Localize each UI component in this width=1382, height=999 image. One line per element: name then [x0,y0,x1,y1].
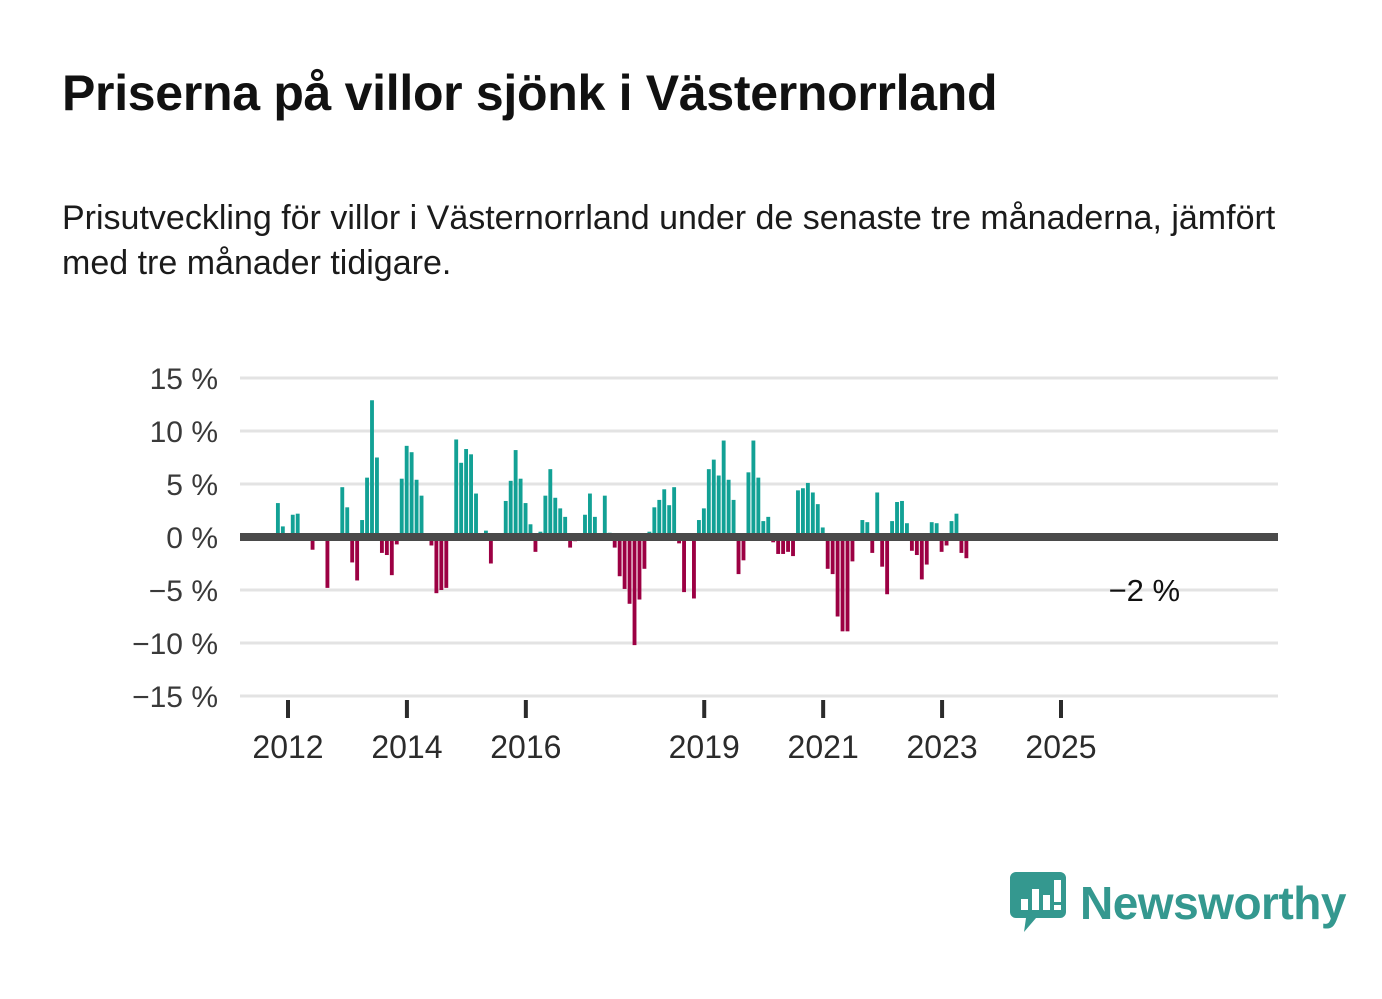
bar [514,450,518,537]
bar [420,496,424,537]
bar [692,537,696,598]
bar [603,496,607,537]
y-axis-tick-label: 15 % [150,363,218,396]
bar [642,537,646,569]
bar [652,507,656,537]
bar [375,458,379,538]
bar [469,454,473,537]
bar [836,537,840,617]
bar [796,490,800,537]
bar [756,478,760,537]
bar [618,537,622,576]
y-axis-tick-label: −10 % [132,628,218,661]
bar [543,496,547,537]
bar [702,508,706,537]
bar-chart: 15 %10 %5 %0 %−5 %−10 %−15 % 20122014201… [0,340,1382,770]
bar [524,503,528,537]
newsworthy-logo[interactable]: Newsworthy [1010,872,1346,934]
bar [325,537,329,588]
y-axis-tick-label: −15 % [132,681,218,714]
bar [672,487,676,537]
bar [712,460,716,537]
annotation-label: −2 % [1109,573,1181,608]
bar [662,489,666,537]
bar [806,483,810,537]
bar [509,481,513,537]
bar [751,441,755,537]
bar [454,439,458,537]
logo-text: Newsworthy [1080,880,1346,926]
bar [722,441,726,537]
bar [623,537,627,589]
bar [434,537,438,593]
y-axis-tick-label: 10 % [150,416,218,449]
bar [727,480,731,537]
y-axis-tick-label: 5 % [166,469,218,502]
chart-page: Priserna på villor sjönk i Västernorrlan… [0,0,1382,999]
bar [811,492,815,537]
x-axis-tick-label: 2021 [788,729,859,765]
bar [548,469,552,537]
bar [370,400,374,537]
x-axis-tick-label: 2023 [906,729,977,765]
y-axis-labels: 15 %10 %5 %0 %−5 %−10 %−15 % [132,363,218,714]
bar [895,502,899,537]
bar [628,537,632,604]
bar [667,505,671,537]
bar [410,452,414,537]
bar [405,446,409,537]
y-axis-tick-label: −5 % [149,575,218,608]
bar [365,478,369,537]
bar [340,487,344,537]
bar [464,449,468,537]
y-axis-tick-label: 0 % [166,522,218,555]
page-subtitle: Prisutveckling för villor i Västernorrla… [62,196,1317,286]
bar [831,537,835,574]
bar [920,537,924,579]
bar [732,500,736,537]
bar [519,479,523,537]
bar [717,476,721,537]
bar [276,503,280,537]
bar [801,488,805,537]
bar [588,494,592,537]
bar [415,480,419,537]
x-axis-labels: 2012201420162019202120232025 [252,700,1096,765]
bar-series [276,400,968,645]
x-axis-tick-label: 2025 [1025,729,1096,765]
x-axis-tick-label: 2014 [371,729,442,765]
bar [875,492,879,537]
bar [925,537,929,565]
x-axis-tick-label: 2019 [669,729,740,765]
bar [707,469,711,537]
x-axis-tick-label: 2016 [490,729,561,765]
x-axis-tick-label: 2012 [252,729,323,765]
bar [439,537,443,590]
bar [474,494,478,537]
bar [900,501,904,537]
bar [737,537,741,574]
bar [444,537,448,588]
bar [682,537,686,592]
bar [657,500,661,537]
bar [816,504,820,537]
bar [747,472,751,537]
bar [553,498,557,537]
bar [885,537,889,594]
bar [826,537,830,569]
bar [638,537,642,600]
bar [400,479,404,537]
value-annotation: −2 % [1109,573,1181,608]
bar [459,463,463,537]
bar [345,507,349,537]
bar [880,537,884,567]
speech-bubble-bar-chart-icon [1010,872,1066,934]
bar [846,537,850,631]
bar [633,537,637,645]
bar [841,537,845,631]
bar [355,537,359,580]
bar [504,501,508,537]
page-title: Priserna på villor sjönk i Västernorrlan… [62,66,1312,121]
bar [390,537,394,575]
chart-container: 15 %10 %5 %0 %−5 %−10 %−15 % 20122014201… [0,340,1382,770]
bar [558,508,562,537]
